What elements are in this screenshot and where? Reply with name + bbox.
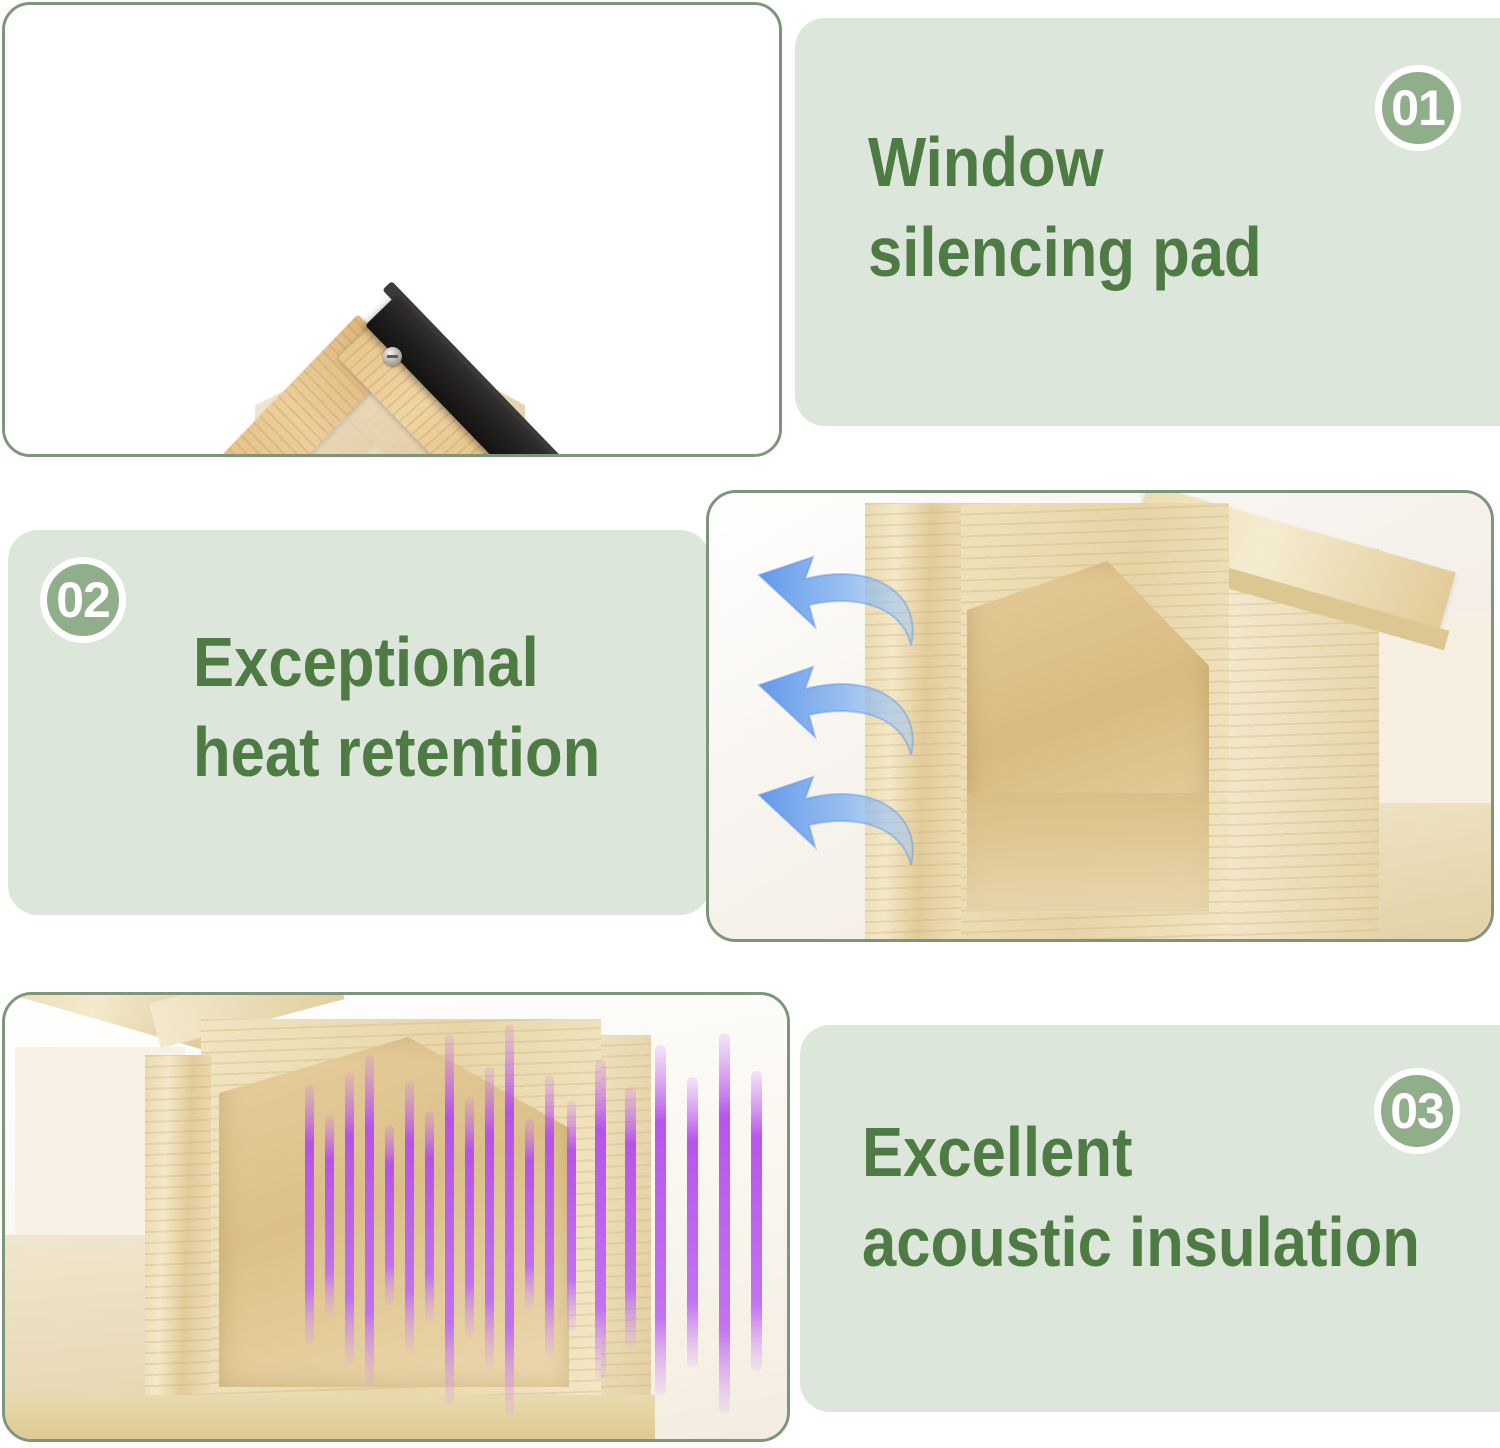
feature-1-title: Window silencing pad xyxy=(868,118,1431,297)
house-front-post xyxy=(145,1055,211,1442)
feature-2-number-badge: 02 xyxy=(40,557,126,643)
screw-icon xyxy=(383,347,402,366)
heat-retention-scene xyxy=(709,493,1491,939)
feature-2-title: Exceptional heat retention xyxy=(193,618,651,797)
feature-1-photo xyxy=(2,2,782,457)
roof-apex-scene xyxy=(5,5,779,454)
heat-flow-arrows-icon xyxy=(751,553,1111,913)
sound-wave-icon xyxy=(295,1015,790,1435)
feature-3-title: Excellent acoustic insulation xyxy=(862,1108,1425,1287)
feature-2-photo xyxy=(706,490,1494,942)
acoustic-insulation-scene xyxy=(5,995,787,1439)
feature-3-photo xyxy=(2,992,790,1442)
